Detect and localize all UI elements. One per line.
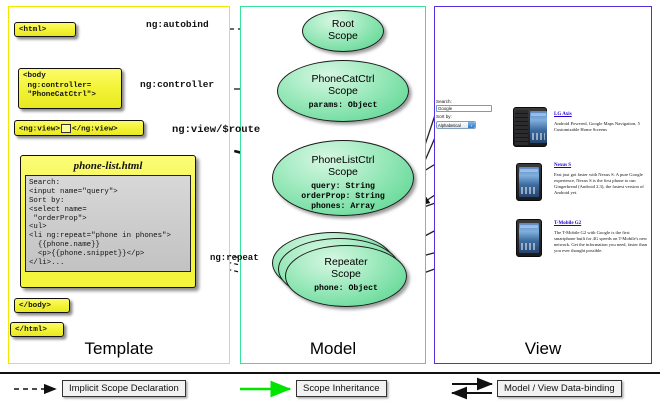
edge-label-ng-repeat: ng:repeat [210, 253, 259, 263]
phone-thumbnail-lg-axis [513, 107, 547, 147]
scope-phonecatctrl-title-line2: Scope [328, 85, 358, 97]
panel-model-label: Model [241, 339, 425, 359]
view-search-form: Search: Google Sort by: Alphabetical ↕ [436, 99, 496, 129]
phone-snippet: Fast just got faster with Nexus S. A pur… [554, 172, 652, 197]
sort-select-value: Alphabetical [438, 123, 461, 128]
phone-list-item: LG Axis Android Powered, Google Maps Nav… [554, 112, 652, 133]
callout-title: phone-list.html [21, 156, 195, 175]
scope-phonelistctrl-title: PhoneListCtrl Scope [273, 155, 413, 179]
panel-view-label: View [435, 339, 651, 359]
legend: Implicit Scope Declaration Scope Inherit… [0, 372, 660, 405]
edge-label-ng-view-route: ng:view/$route [172, 124, 260, 136]
scope-repeater-title-line2: Scope [331, 268, 361, 280]
scope-phonecatctrl-title: PhoneCatCtrl Scope [278, 74, 408, 98]
phone-snippet: Android Powered, Google Maps Navigation,… [554, 121, 652, 134]
ng-view-open-tag: <ng:view> [19, 126, 60, 134]
phone-thumbnail-nexus-s [516, 163, 542, 201]
callout-phone-list-html: phone-list.html Search: <input name="que… [20, 155, 196, 288]
legend-divider [0, 372, 660, 374]
code-box-html-close: </html> [10, 322, 64, 337]
callout-code: Search: <input name="query"> Sort by: <s… [25, 175, 191, 272]
scope-root-title-line1: Root [332, 18, 354, 30]
code-box-ng-view: <ng:view></ng:view> [14, 120, 144, 136]
scope-phonecatctrl-title-line1: PhoneCatCtrl [311, 73, 374, 85]
scope-repeater-title: Repeater Scope [286, 257, 406, 281]
phone-screen [519, 223, 539, 253]
legend-item-model-view-data-binding: Model / View Data-binding [497, 380, 622, 397]
code-box-body-open: <body ng:controller= "PhoneCatCtrl"> [18, 68, 122, 109]
scope-repeater-title-line1: Repeater [324, 256, 367, 268]
ng-view-slot-icon [61, 124, 71, 133]
phone-name-link[interactable]: Nexus S [554, 163, 652, 170]
scope-phonelistctrl-title-line1: PhoneListCtrl [311, 154, 374, 166]
legend-item-scope-inheritance: Scope Inheritance [296, 380, 387, 397]
keyboard-icon [515, 110, 528, 146]
legend-item-implicit-scope-declaration: Implicit Scope Declaration [62, 380, 186, 397]
search-input[interactable]: Google [436, 105, 492, 112]
phone-list-item: T-Mobile G2 The T-Mobile G2 with Google … [554, 221, 652, 255]
sort-select[interactable]: Alphabetical ↕ [436, 121, 476, 129]
scope-phonecatctrl-props: params: Object [278, 101, 408, 111]
scope-phonecatctrl: PhoneCatCtrl Scope params: Object [277, 60, 409, 122]
edge-label-ng-controller: ng:controller [140, 79, 214, 90]
scope-phonelistctrl: PhoneListCtrl Scope query: String orderP… [272, 140, 414, 216]
scope-phonelistctrl-title-line2: Scope [328, 166, 358, 178]
edge-label-ng-autobind: ng:autobind [146, 19, 209, 30]
phone-thumbnail-t-mobile-g2 [516, 219, 542, 257]
phone-snippet: The T-Mobile G2 with Google is the first… [554, 230, 652, 255]
phone-screen [519, 167, 539, 197]
sort-label: Sort by: [436, 114, 496, 120]
scope-root-title-line2: Scope [328, 30, 358, 42]
diagram-canvas: Template <html> <body ng:controller= "Ph… [0, 0, 660, 405]
ng-view-close-tag: </ng:view> [72, 126, 118, 134]
phone-name-link[interactable]: T-Mobile G2 [554, 221, 652, 228]
code-box-html-open: <html> [14, 22, 76, 37]
scope-root-title: Root Scope [303, 19, 383, 43]
code-box-body-close: </body> [14, 298, 70, 313]
scope-repeater-props: phone: Object [286, 284, 406, 294]
panel-template-label: Template [9, 339, 229, 359]
scope-repeater: Repeater Scope phone: Object [285, 245, 407, 307]
phone-list-item: Nexus S Fast just got faster with Nexus … [554, 163, 652, 197]
phone-screen [530, 111, 547, 143]
scope-phonelistctrl-props: query: String orderProp: String phones: … [273, 182, 413, 213]
phone-name-link[interactable]: LG Axis [554, 112, 652, 119]
scope-root: Root Scope [302, 10, 384, 52]
chevron-updown-icon: ↕ [468, 122, 475, 128]
